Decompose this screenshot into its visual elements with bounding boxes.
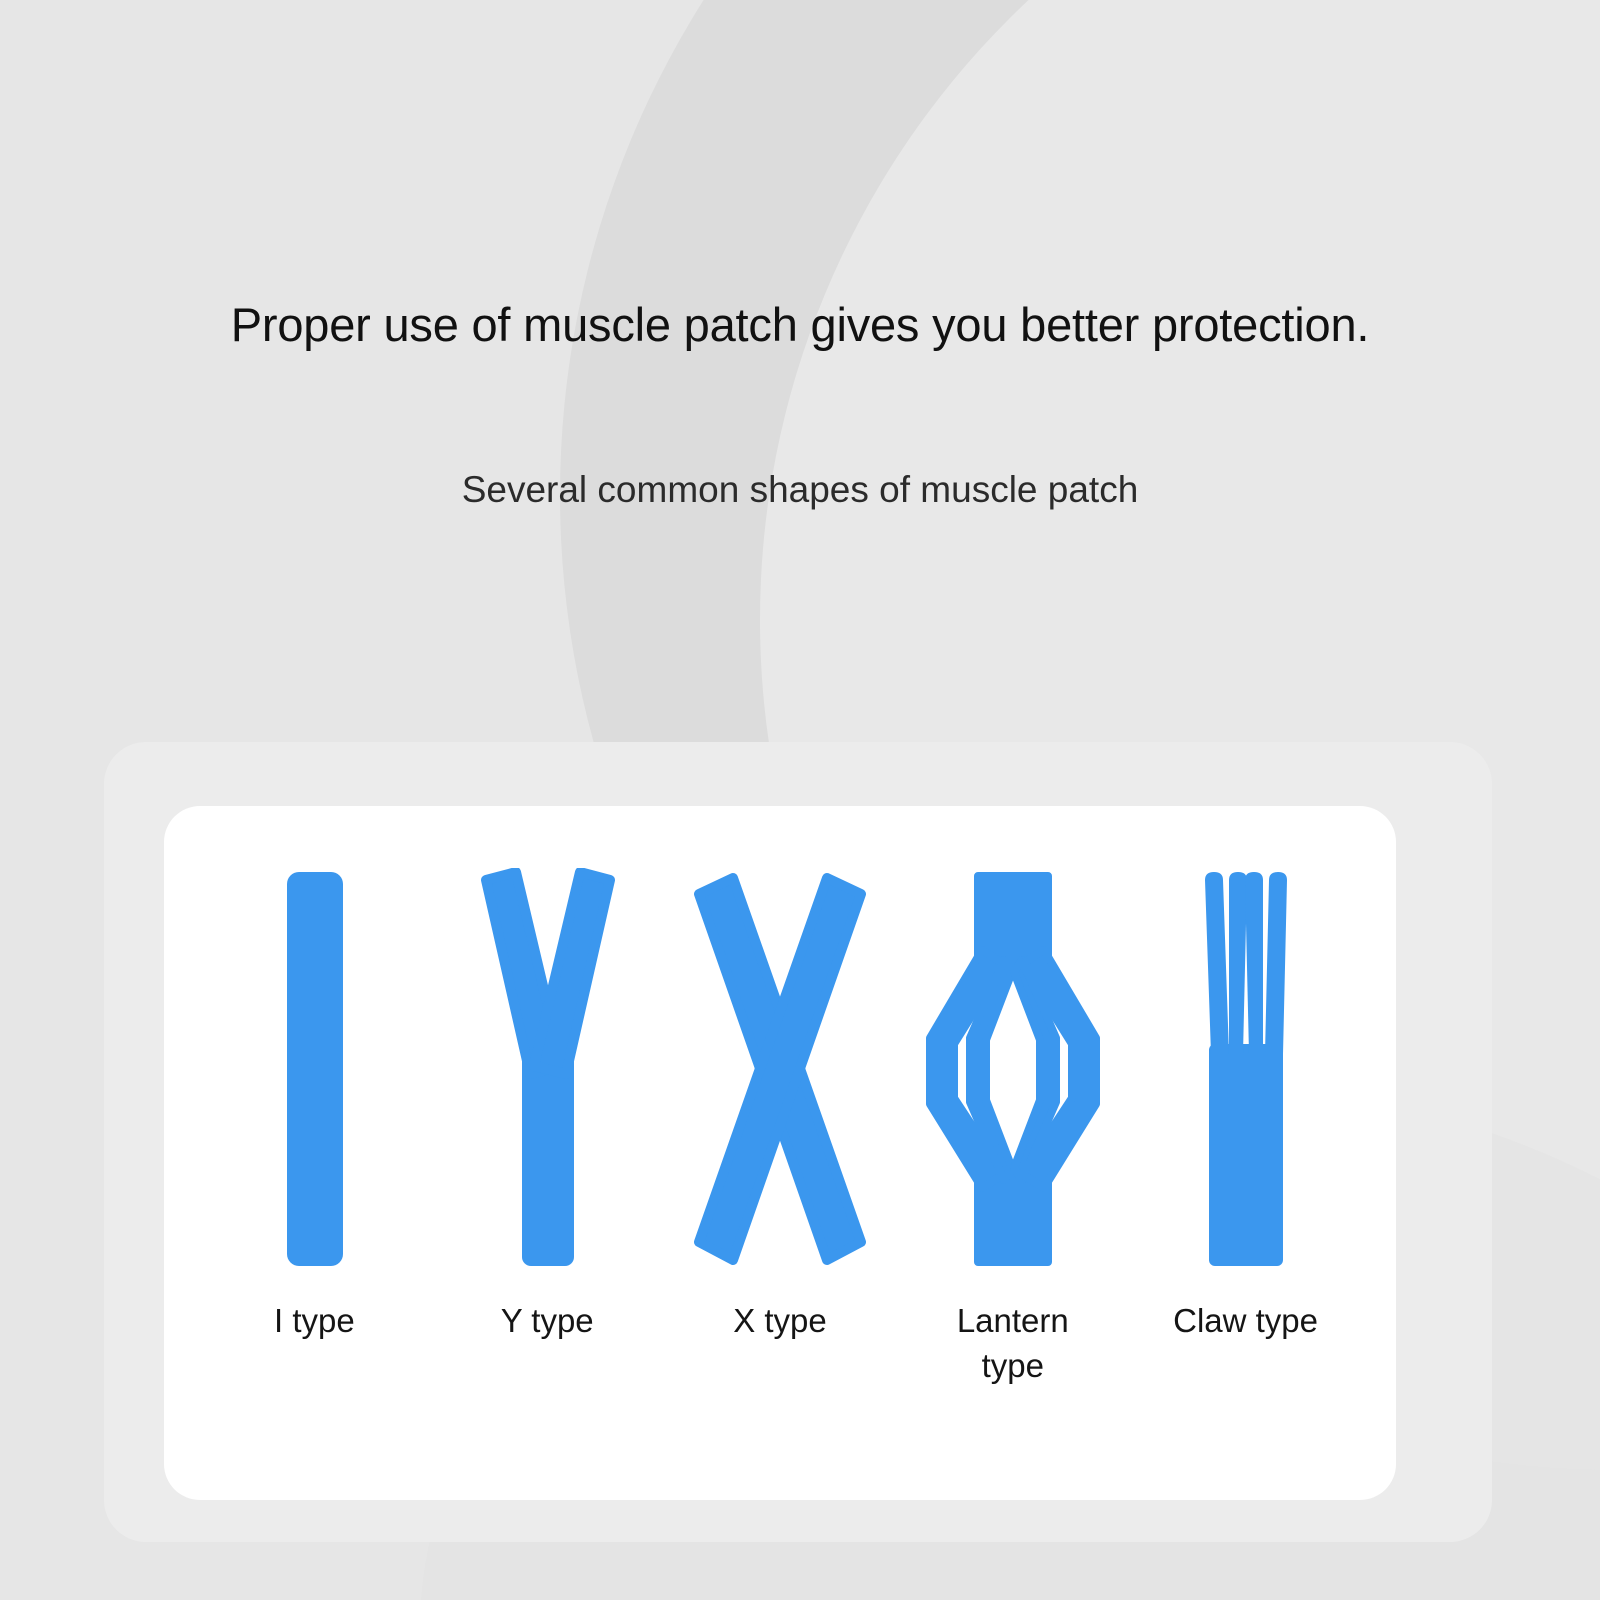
x-type-patch-icon [675,868,885,1270]
page-subtitle: Several common shapes of muscle patch [0,466,1600,514]
shape-label-i-type: I type [229,1298,399,1343]
shape-label-y-type: Y type [462,1298,632,1343]
shape-list: I type Y type [164,806,1396,1500]
y-type-patch-icon [442,868,652,1270]
i-type-patch-icon [209,868,419,1270]
shape-item-x-type[interactable]: X type [675,868,885,1343]
shapes-card: I type Y type [164,806,1396,1500]
page-title: Proper use of muscle patch gives you bet… [0,296,1600,354]
shape-label-lantern-type: Lantern type [928,1298,1098,1388]
shape-item-y-type[interactable]: Y type [442,868,652,1343]
claw-type-patch-icon [1141,868,1351,1270]
shape-item-i-type[interactable]: I type [209,868,419,1343]
shape-item-lantern-type[interactable]: Lantern type [908,868,1118,1388]
shape-label-claw-type: Claw type [1161,1298,1331,1343]
page-root: Proper use of muscle patch gives you bet… [0,0,1600,1600]
shape-label-x-type: X type [695,1298,865,1343]
shape-item-claw-type[interactable]: Claw type [1141,868,1351,1343]
lantern-type-patch-icon [908,868,1118,1270]
